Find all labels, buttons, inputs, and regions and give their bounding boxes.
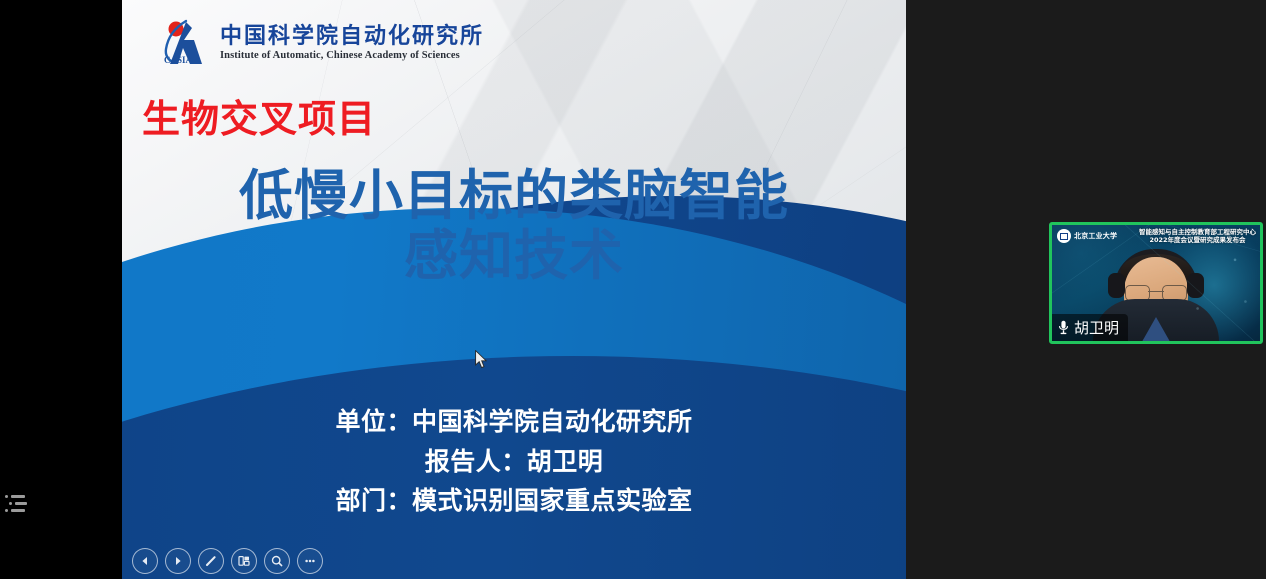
video-org-name: 北京工业大学: [1074, 231, 1117, 241]
slide-title: 低慢小目标的类脑智能 感知技术: [122, 166, 906, 287]
university-crest-icon: [1057, 229, 1071, 243]
person-mouth: [1143, 307, 1169, 317]
casia-logo-mark: CASIA: [156, 18, 212, 68]
slide-kicker-text: 生物交叉项目: [142, 88, 376, 143]
left-rail: [0, 0, 122, 579]
headphone-cup-right: [1187, 273, 1204, 298]
participant-video-tile[interactable]: 北京工业大学 智能感知与自主控制教育部工程研究中心 2022年度会议暨研究成果发…: [1049, 222, 1263, 344]
svg-text:CASIA: CASIA: [164, 55, 193, 65]
slide-meta-department: 部门：模式识别国家重点实验室: [122, 481, 906, 521]
person-shirt: [1139, 317, 1173, 344]
participants-list-icon[interactable]: [5, 495, 27, 517]
person-hair: [1121, 254, 1191, 288]
participant-name: 胡卫明: [1074, 317, 1119, 338]
casia-logo-chinese: 中国科学院自动化研究所: [220, 25, 484, 47]
person-glasses: [1125, 285, 1187, 300]
slide-title-line1: 低慢小目标的类脑智能: [239, 164, 789, 227]
video-org-logo: 北京工业大学: [1057, 229, 1117, 243]
slide-title-line2: 感知技术: [122, 226, 906, 286]
headphones-band: [1114, 249, 1198, 289]
slide-layout-button[interactable]: [231, 548, 257, 574]
participant-nameplate: 胡卫明: [1052, 314, 1128, 341]
more-options-button[interactable]: [297, 548, 323, 574]
presentation-toolbar[interactable]: [126, 545, 329, 577]
slide-meta-presenter: 报告人：胡卫明: [122, 442, 906, 482]
meeting-window: CASIA 中国科学院自动化研究所 Institute of Automatic…: [0, 0, 1266, 579]
annotate-pen-button[interactable]: [198, 548, 224, 574]
slide-meta-block: 单位：中国科学院自动化研究所 报告人：胡卫明 部门：模式识别国家重点实验室: [122, 402, 906, 521]
casia-logo-english: Institute of Automatic, Chinese Academy …: [220, 51, 484, 62]
zoom-search-button[interactable]: [264, 548, 290, 574]
person-face: [1124, 257, 1188, 329]
participant-area: 北京工业大学 智能感知与自主控制教育部工程研究中心 2022年度会议暨研究成果发…: [906, 0, 1266, 579]
video-banner-line2: 2022年度会议暨研究成果发布会: [1139, 236, 1256, 244]
next-slide-button[interactable]: [165, 548, 191, 574]
previous-slide-button[interactable]: [132, 548, 158, 574]
casia-logo-text: 中国科学院自动化研究所 Institute of Automatic, Chin…: [220, 25, 484, 62]
shared-screen-slide[interactable]: CASIA 中国科学院自动化研究所 Institute of Automatic…: [122, 0, 906, 579]
microphone-icon: [1058, 320, 1069, 335]
casia-logo: CASIA 中国科学院自动化研究所 Institute of Automatic…: [156, 18, 484, 68]
headphone-cup-left: [1108, 273, 1125, 298]
slide-meta-affiliation: 单位：中国科学院自动化研究所: [122, 402, 906, 442]
video-background-banner: 智能感知与自主控制教育部工程研究中心 2022年度会议暨研究成果发布会: [1139, 228, 1256, 245]
